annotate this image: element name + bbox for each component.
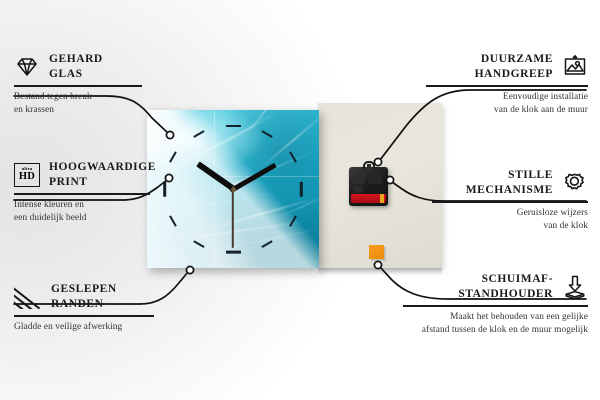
feature-description: Maakt het behouden van een gelijke afsta… [403, 311, 588, 337]
feature-stille-mechanisme: STILLE MECHANISME Geruisloze wijzers van… [432, 168, 588, 232]
feature-gehard-glas: GEHARD GLAS Bestand tegen breuk en krass… [14, 52, 164, 116]
feature-heading: DUURZAME HANDGREEP [426, 52, 588, 81]
diagonal-stripes-icon [14, 285, 42, 309]
diamond-icon [14, 54, 40, 80]
badge-bottom-text: HD [19, 172, 35, 183]
feature-title: SCHUIMAF- STANDHOUDER [458, 272, 553, 301]
wall-clock-product [147, 110, 319, 268]
press-down-arrow-icon [562, 274, 588, 300]
feature-title: GESLEPEN RANDEN [51, 282, 117, 311]
feature-geslepen-randen: GESLEPEN RANDEN Gladde en veilige afwerk… [14, 282, 166, 334]
feature-heading: STILLE MECHANISME [432, 168, 588, 197]
feature-heading: SCHUIMAF- STANDHOUDER [403, 272, 588, 301]
gear-icon [562, 170, 588, 196]
ultra-hd-badge-icon: ultra HD [14, 163, 40, 187]
mechanism-shaft [367, 164, 371, 170]
divider [14, 193, 150, 194]
mechanism-vent [353, 173, 365, 184]
feature-schuimaf-standhouder: SCHUIMAF- STANDHOUDER Maakt het behouden… [403, 272, 588, 336]
mechanism-vent [353, 186, 363, 193]
divider [14, 85, 142, 86]
feature-heading: GESLEPEN RANDEN [14, 282, 166, 311]
feature-description: Bestand tegen breuk en krassen [14, 91, 164, 117]
divider [403, 305, 588, 306]
clock-tick [301, 182, 304, 197]
infographic-canvas: GEHARD GLAS Bestand tegen breuk en krass… [0, 0, 600, 400]
clock-hand-cap [231, 187, 236, 192]
feature-heading: GEHARD GLAS [14, 52, 164, 81]
feature-description: Gladde en veilige afwerking [14, 321, 166, 334]
divider [432, 201, 588, 202]
feature-description: Geruisloze wijzers van de klok [432, 207, 588, 233]
picture-frame-icon [562, 54, 588, 80]
divider [426, 85, 588, 86]
feature-title: STILLE MECHANISME [466, 168, 553, 197]
feature-duurzame-handgreep: DUURZAME HANDGREEP Eenvoudige installati… [426, 52, 588, 116]
feature-description: Eenvoudige installatie van de klok aan d… [426, 91, 588, 117]
clock-mechanism [349, 167, 388, 206]
feature-hoogwaardige-print: ultra HD HOOGWAARDIGE PRINT Intense kleu… [14, 160, 170, 224]
clock-tick [226, 125, 241, 128]
feature-title: HOOGWAARDIGE PRINT [49, 160, 156, 189]
feature-title: GEHARD GLAS [49, 52, 103, 81]
feature-title: DUURZAME HANDGREEP [475, 52, 553, 81]
clock-tick [226, 251, 241, 254]
mechanism-label [351, 194, 386, 203]
mechanism-label-accent [380, 194, 384, 203]
foam-spacer [369, 245, 384, 259]
divider [14, 315, 154, 316]
clock-second-hand [232, 186, 234, 248]
mechanism-vent [368, 173, 382, 184]
feature-description: Intense kleuren en een duidelijk beeld [14, 199, 170, 225]
glass-seam [147, 176, 319, 177]
feature-heading: ultra HD HOOGWAARDIGE PRINT [14, 160, 170, 189]
glass-seam [214, 110, 215, 268]
